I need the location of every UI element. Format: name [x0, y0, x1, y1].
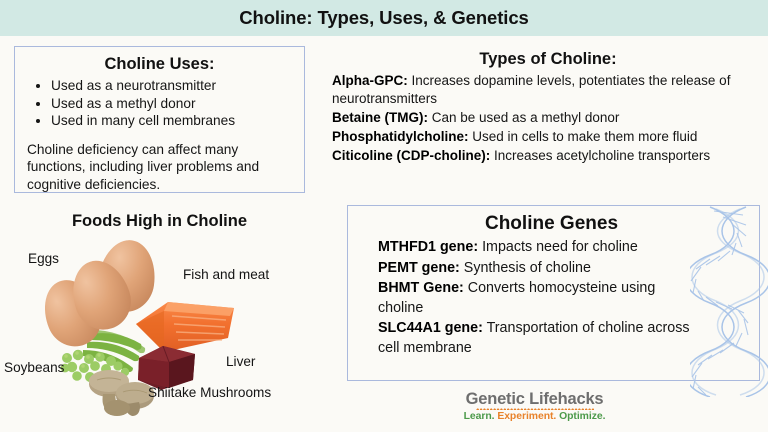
- choline-genes-heading: Choline Genes: [370, 213, 751, 235]
- type-entry-phosphatidylcholine: Phosphatidylcholine: Used in cells to ma…: [332, 128, 766, 146]
- type-term: Alpha-GPC:: [332, 73, 408, 88]
- gene-entry-mthfd1: MTHFD1 gene: Impacts need for choline: [378, 238, 751, 258]
- tagline-learn: Learn.: [464, 411, 495, 422]
- type-entry-alpha-gpc: Alpha-GPC: Increases dopamine levels, po…: [332, 72, 766, 108]
- choline-uses-list: Used as a neurotransmitter Used as a met…: [27, 77, 294, 130]
- types-of-choline-heading: Types of Choline:: [330, 50, 766, 69]
- choline-genes-panel: Choline Genes MTHFD1 gene: Impacts need …: [347, 205, 760, 381]
- foods-illustration: Eggs Fish and meat Soybeans Liver Shiita…: [0, 232, 325, 432]
- type-desc: Increases acetylcholine transporters: [490, 148, 710, 163]
- food-label-liver: Liver: [226, 354, 255, 369]
- types-of-choline-section: Types of Choline: Alpha-GPC: Increases d…: [330, 50, 766, 166]
- gene-desc: Synthesis of choline: [460, 260, 591, 276]
- type-desc: Used in cells to make them more fluid: [469, 129, 698, 144]
- brand-tagline: Learn. Experiment. Optimize.: [452, 411, 617, 423]
- foods-high-in-choline-heading: Foods High in Choline: [14, 212, 305, 231]
- choline-uses-heading: Choline Uses:: [25, 55, 294, 74]
- gene-term: PEMT gene:: [378, 260, 460, 276]
- header-bar: Choline: Types, Uses, & Genetics: [0, 0, 768, 36]
- type-term: Citicoline (CDP-choline):: [332, 148, 490, 163]
- tagline-experiment: Experiment.: [494, 411, 556, 422]
- gene-entry-bhmt: BHMT Gene: Converts homocysteine using c…: [378, 279, 751, 318]
- gene-desc: Impacts need for choline: [478, 239, 638, 255]
- food-label-eggs: Eggs: [28, 251, 59, 266]
- food-label-soybeans: Soybeans: [4, 360, 64, 375]
- choline-deficiency-note: Choline deficiency can affect many funct…: [27, 141, 294, 194]
- gene-entry-pemt: PEMT gene: Synthesis of choline: [378, 259, 751, 279]
- brand-logo: Genetic Lifehacks Learn. Experiment. Opt…: [452, 390, 617, 423]
- food-label-shiitake-mushrooms: Shiitake Mushrooms: [148, 384, 271, 401]
- gene-term: MTHFD1 gene:: [378, 239, 478, 255]
- brand-name: Genetic Lifehacks: [452, 390, 617, 408]
- type-entry-betaine: Betaine (TMG): Can be used as a methyl d…: [332, 109, 766, 127]
- tagline-optimize: Optimize.: [556, 411, 605, 422]
- type-entry-citicoline: Citicoline (CDP-choline): Increases acet…: [332, 147, 766, 165]
- choline-uses-panel: Choline Uses: Used as a neurotransmitter…: [14, 46, 305, 193]
- list-item: Used as a neurotransmitter: [51, 77, 294, 95]
- gene-term: SLC44A1 gene:: [378, 320, 483, 336]
- type-desc: Can be used as a methyl donor: [428, 110, 619, 125]
- list-item: Used as a methyl donor: [51, 95, 294, 113]
- gene-term: BHMT Gene:: [378, 280, 464, 296]
- list-item: Used in many cell membranes: [51, 112, 294, 130]
- logo-dotted-divider: [476, 408, 594, 410]
- type-term: Betaine (TMG):: [332, 110, 428, 125]
- page-title: Choline: Types, Uses, & Genetics: [239, 7, 528, 29]
- food-label-fish-and-meat: Fish and meat: [183, 267, 269, 282]
- type-term: Phosphatidylcholine:: [332, 129, 469, 144]
- gene-entry-slc44a1: SLC44A1 gene: Transportation of choline …: [378, 319, 751, 358]
